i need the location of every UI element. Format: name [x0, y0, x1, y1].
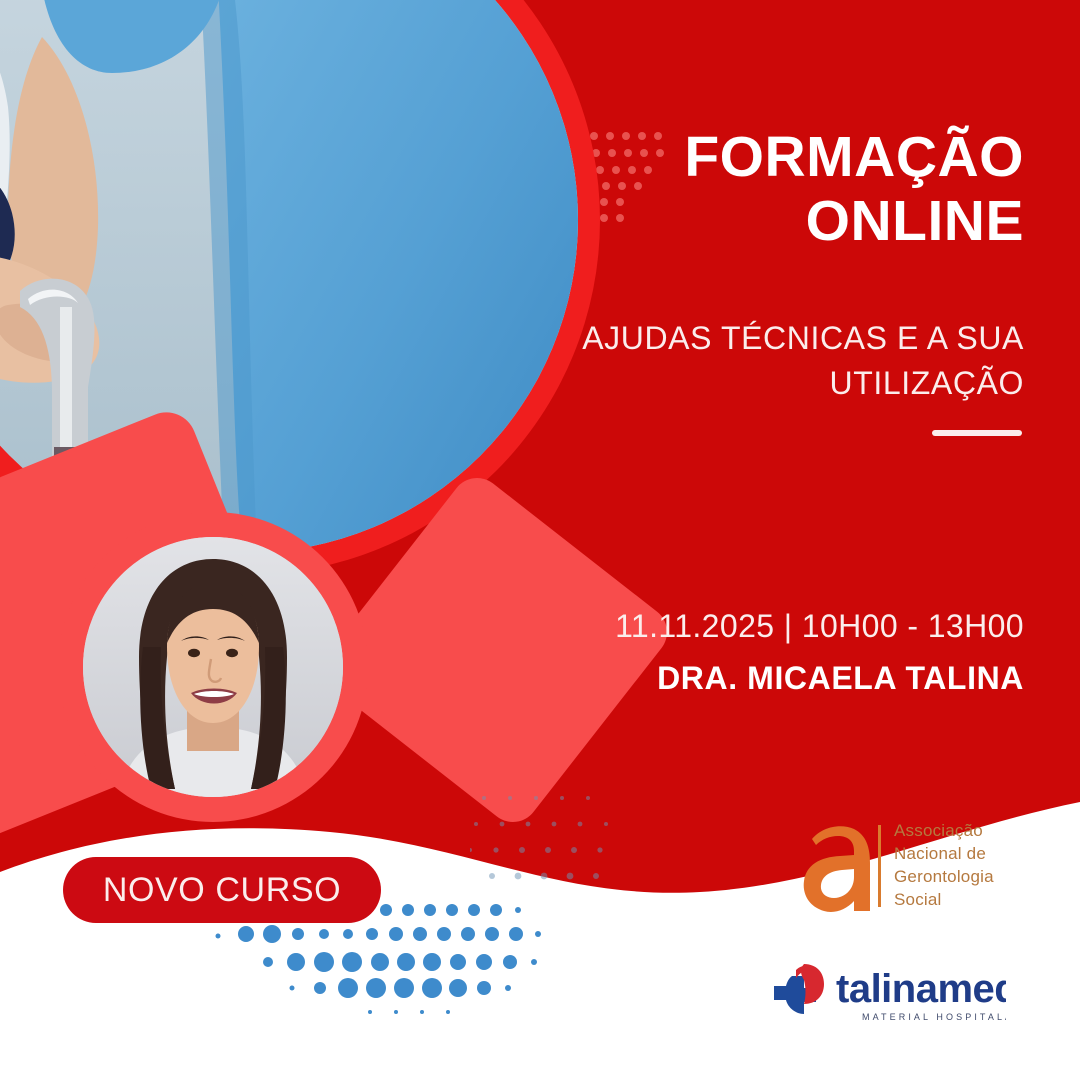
talinamed-tagline: MATERIAL HOSPITALAR — [862, 1012, 1006, 1022]
page-title: FORMAÇÃO ONLINE — [600, 126, 1024, 254]
subtitle-line-1: AJUDAS TÉCNICAS E A SUA — [580, 316, 1024, 361]
angs-line-2: Nacional de — [894, 843, 994, 866]
badge-label: NOVO CURSO — [103, 871, 341, 910]
angs-divider — [878, 825, 881, 907]
talinamed-wordmark: talinamed — [836, 967, 1006, 1011]
angs-line-4: Social — [894, 889, 994, 912]
angs-name: Associação Nacional de Gerontologia Soci… — [894, 820, 994, 911]
event-datetime: 11.11.2025 | 10H00 - 13H00 — [580, 608, 1024, 645]
angs-line-1: Associação — [894, 820, 994, 843]
subtitle-line-2: UTILIZAÇÃO — [580, 361, 1024, 406]
halftone-dots-blue — [200, 900, 620, 1060]
headline-line-1: FORMAÇÃO — [600, 126, 1024, 190]
talinamed-cross-icon — [774, 964, 824, 1014]
headline-line-2: ONLINE — [600, 190, 1024, 254]
course-subtitle: AJUDAS TÉCNICAS E A SUA UTILIZAÇÃO — [580, 316, 1024, 407]
angs-line-3: Gerontologia — [894, 866, 994, 889]
angs-letter-a-icon — [800, 817, 874, 915]
promotional-poster: FORMAÇÃO ONLINE AJUDAS TÉCNICAS E A SUA … — [0, 0, 1080, 1080]
halftone-dots-blue-faint — [470, 790, 650, 900]
talinamed-logo[interactable]: talinamed MATERIAL HOSPITALAR — [766, 958, 1006, 1030]
divider-rule — [932, 430, 1022, 436]
event-speaker: DRA. MICAELA TALINA — [580, 660, 1024, 697]
presenter-portrait — [58, 512, 368, 822]
novo-curso-badge[interactable]: NOVO CURSO — [63, 857, 381, 923]
angs-logo[interactable]: Associação Nacional de Gerontologia Soci… — [800, 812, 1010, 920]
